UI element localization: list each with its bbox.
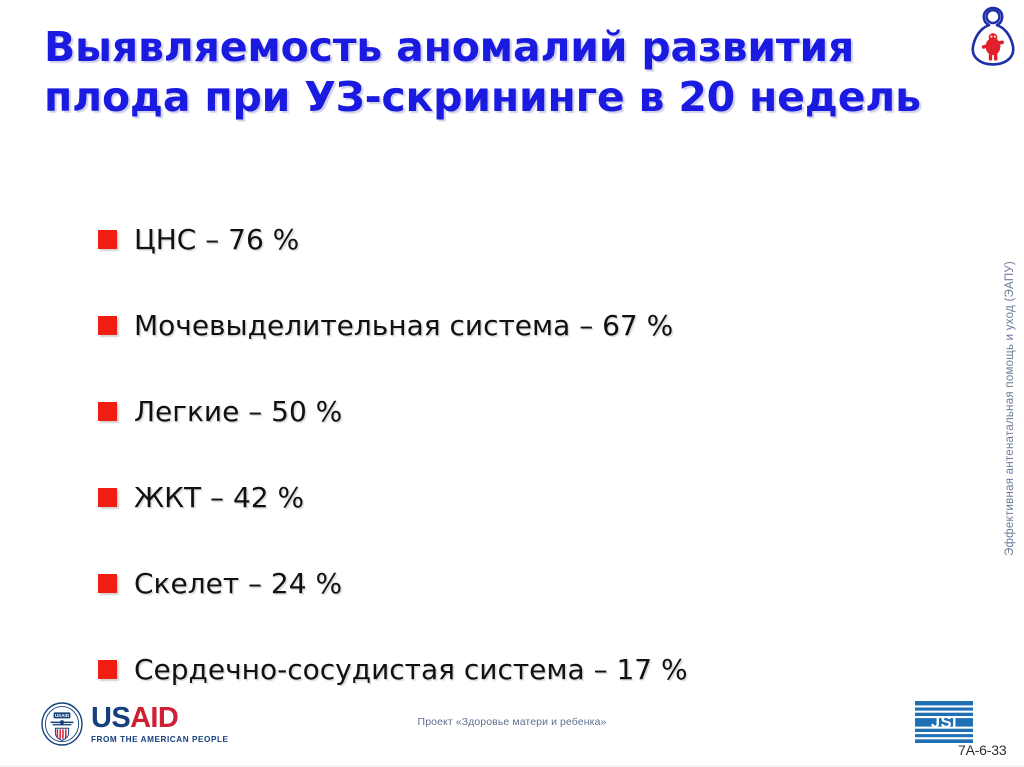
list-item-label: ЦНС – 76 % [134, 223, 299, 256]
usaid-tagline: FROM THE AMERICAN PEOPLE [91, 735, 229, 744]
usaid-logo: USAID USAID FRO [40, 702, 229, 746]
list-item: Мочевыделительная система – 67 % [98, 282, 888, 368]
usaid-word-us: US [91, 702, 130, 734]
list-item: ЦНС – 76 % [98, 196, 888, 282]
list-item: Сердечно-сосудистая система – 17 % [98, 626, 888, 712]
usaid-seal-icon: USAID [40, 702, 84, 746]
square-bullet-icon [98, 402, 117, 421]
list-item-label: Мочевыделительная система – 67 % [134, 309, 673, 342]
usaid-word-aid: AID [130, 702, 178, 734]
list-item: Легкие – 50 % [98, 368, 888, 454]
square-bullet-icon [98, 488, 117, 507]
svg-text:USAID: USAID [55, 713, 70, 718]
square-bullet-icon [98, 230, 117, 249]
slide-canvas: Выявляемость аномалий развития плода при… [0, 0, 1024, 767]
list-item-label: ЖКТ – 42 % [134, 481, 304, 514]
mother-and-child-icon [964, 2, 1022, 68]
course-sidebar-caption-text: Эффективная антенатальная помощь и уход … [1005, 261, 1017, 556]
svg-text:JSI: JSI [931, 713, 957, 731]
list-item-label: Скелет – 24 % [134, 567, 342, 600]
square-bullet-icon [98, 574, 117, 593]
list-item: Скелет – 24 % [98, 540, 888, 626]
square-bullet-icon [98, 316, 117, 335]
list-item-label: Легкие – 50 % [134, 395, 342, 428]
slide-number: 7A-6-33 [958, 742, 1006, 758]
slide-title-text: Выявляемость аномалий развития плода при… [44, 22, 974, 122]
list-item-label: Сердечно-сосудистая система – 17 % [134, 653, 688, 686]
course-sidebar-caption: Эффективная антенатальная помощь и уход … [1000, 178, 1022, 640]
detection-rate-list: ЦНС – 76 % Мочевыделительная система – 6… [98, 196, 888, 712]
list-item: ЖКТ – 42 % [98, 454, 888, 540]
square-bullet-icon [98, 660, 117, 679]
page-title: Выявляемость аномалий развития плода при… [44, 22, 974, 122]
usaid-wordmark: USAID FROM THE AMERICAN PEOPLE [91, 704, 229, 744]
jsi-logo: JSI [915, 701, 973, 743]
